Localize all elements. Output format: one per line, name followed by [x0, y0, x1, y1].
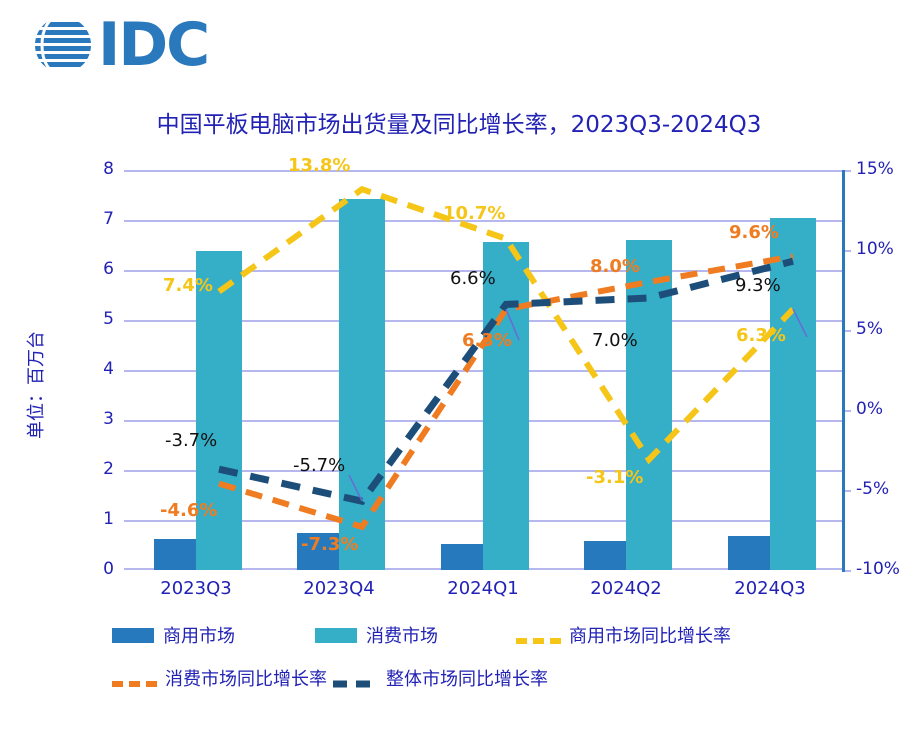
legend-item-commercial-growth[interactable]: 商用市场同比增长率 [516, 622, 731, 648]
legend-item-commercial-market[interactable]: 商用市场 [112, 622, 235, 648]
x-tick-2023Q4: 2023Q4 [289, 578, 389, 599]
x-tick-2024Q2: 2024Q2 [576, 578, 676, 599]
y-tick-1: 1 [84, 509, 114, 529]
legend-dashed-line-icon [516, 632, 562, 638]
label-commercial-growth-2023Q3: 7.4% [163, 275, 213, 296]
y2-tick-0: 0% [856, 399, 916, 419]
y-axis-title: 单位：百万台 [22, 85, 48, 285]
label-overall-growth-2023Q4: -5.7% [293, 455, 345, 476]
y-axis-title-text: 单位：百万台 [22, 285, 48, 485]
x-tick-2024Q1: 2024Q1 [433, 578, 533, 599]
right-axis-line [842, 170, 845, 572]
label-overall-growth-2024Q1: 6.6% [450, 268, 496, 289]
label-overall-growth-2024Q3: 9.3% [735, 275, 781, 296]
y-tick-5: 5 [84, 309, 114, 329]
legend-label-consumer-growth: 消费市场同比增长率 [165, 665, 327, 691]
y2-tick-15: 15% [856, 159, 916, 179]
leader-line-2024Q3 [793, 309, 807, 337]
chart-legend: 商用市场 消费市场 商用市场同比增长率 消费市场同比增长率 [0, 622, 918, 691]
legend-item-consumer-growth[interactable]: 消费市场同比增长率 [112, 665, 327, 691]
y2-tick-neg5: -5% [856, 479, 916, 499]
label-commercial-growth-2024Q2: -3.1% [586, 467, 643, 488]
chart-title: 中国平板电脑市场出货量及同比增长率，2023Q3-2024Q3 [0, 105, 918, 139]
legend-label-consumer-market: 消费市场 [366, 622, 438, 648]
x-tick-2023Q3: 2023Q3 [146, 578, 246, 599]
label-consumer-growth-2024Q1: 6.3% [462, 330, 512, 351]
legend-label-commercial-growth: 商用市场同比增长率 [569, 622, 731, 648]
line-consumer-growth [219, 256, 793, 526]
legend-swatch-bar-icon [112, 628, 154, 643]
idc-wordmark: IDC [98, 14, 208, 76]
line-commercial-growth [219, 189, 793, 459]
y2-tick-neg10: -10% [856, 559, 916, 579]
y-tick-6: 6 [84, 259, 114, 279]
legend-dashed-line-icon [112, 675, 158, 681]
label-consumer-growth-2023Q4: -7.3% [301, 534, 358, 555]
y-tick-3: 3 [84, 409, 114, 429]
legend-label-overall-growth: 整体市场同比增长率 [386, 665, 548, 691]
label-consumer-growth-2024Q3: 9.6% [729, 222, 779, 243]
idc-logo: IDC [32, 14, 208, 76]
y-tick-7: 7 [84, 209, 114, 229]
label-consumer-growth-2024Q2: 8.0% [590, 256, 640, 277]
label-overall-growth-2023Q3: -3.7% [165, 430, 217, 451]
y-tick-2: 2 [84, 459, 114, 479]
label-commercial-growth-2023Q4: 13.8% [288, 155, 350, 176]
x-tick-2024Q3: 2024Q3 [720, 578, 820, 599]
y2-tick-5: 5% [856, 319, 916, 339]
y-tick-4: 4 [84, 359, 114, 379]
label-consumer-growth-2023Q3: -4.6% [160, 500, 217, 521]
legend-label-commercial-market: 商用市场 [163, 622, 235, 648]
y-tick-8: 8 [84, 159, 114, 179]
y-tick-0: 0 [84, 559, 114, 579]
label-overall-growth-2024Q2: 7.0% [592, 330, 638, 351]
label-commercial-growth-2024Q3: 6.3% [736, 325, 786, 346]
idc-globe-icon [32, 14, 94, 76]
y2-tick-10: 10% [856, 239, 916, 259]
legend-item-overall-growth[interactable]: 整体市场同比增长率 [333, 665, 548, 691]
chart-page: IDC 中国平板电脑市场出货量及同比增长率，2023Q3-2024Q3 单位：百… [0, 0, 918, 749]
legend-swatch-bar-icon [315, 628, 357, 643]
label-commercial-growth-2024Q1: 10.7% [443, 203, 505, 224]
legend-item-consumer-market[interactable]: 消费市场 [315, 622, 438, 648]
legend-dashed-line-icon [333, 675, 379, 681]
